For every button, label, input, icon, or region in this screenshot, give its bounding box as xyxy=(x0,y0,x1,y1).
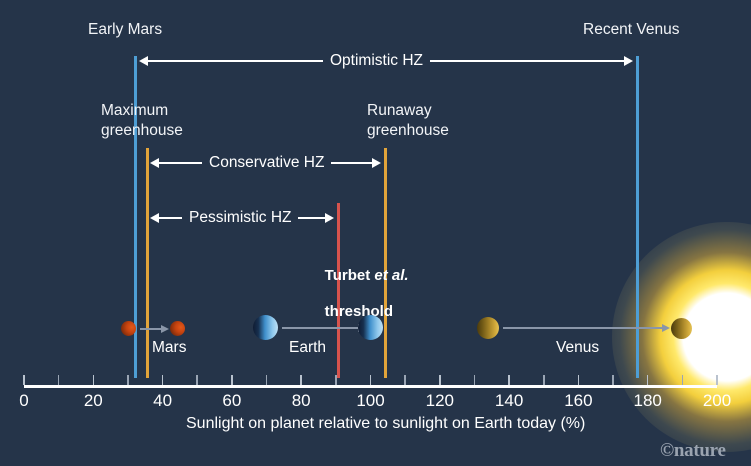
axis-tick xyxy=(127,375,129,385)
zone-conservative-hz: Conservative HZ xyxy=(150,153,381,173)
axis-title: Sunlight on planet relative to sunlight … xyxy=(186,415,585,433)
axis-tick-label: 100 xyxy=(356,391,384,411)
axis-tick-label: 0 xyxy=(19,391,28,411)
arrow-right-icon xyxy=(325,213,334,223)
planet-earth-arrow xyxy=(282,323,366,333)
marker-line-maximum-greenhouse xyxy=(146,148,149,378)
planet-venus-arrow xyxy=(503,323,670,333)
axis-tick xyxy=(474,375,476,385)
axis-tick xyxy=(300,375,302,385)
zone-label-conservative: Conservative HZ xyxy=(202,154,331,172)
label-early-mars: Early Mars xyxy=(88,20,162,39)
turbet-line1-plain: Turbet xyxy=(325,267,375,284)
axis-tick xyxy=(335,375,337,385)
axis-line xyxy=(24,385,717,388)
axis-tick xyxy=(716,375,718,385)
figure-canvas: Early Mars Recent Venus Optimistic HZ Ma… xyxy=(0,0,751,466)
axis-tick-label: 20 xyxy=(84,391,103,411)
arrow-shaft xyxy=(282,327,358,329)
axis-tick xyxy=(647,375,649,385)
zone-label-pessimistic: Pessimistic HZ xyxy=(182,209,298,227)
measure-line xyxy=(430,60,624,62)
planet-mars-present xyxy=(170,321,185,336)
zone-pessimistic-hz: Pessimistic HZ xyxy=(150,208,334,228)
arrow-right-icon xyxy=(372,158,381,168)
planet-label-mars: Mars xyxy=(152,339,186,357)
axis-tick xyxy=(404,375,406,385)
measure-line xyxy=(159,217,182,219)
axis-tick xyxy=(370,375,372,385)
planet-venus-past xyxy=(477,317,499,339)
axis-tick-label: 40 xyxy=(153,391,172,411)
label-maximum-greenhouse: Maximum greenhouse xyxy=(101,101,183,141)
axis-tick xyxy=(508,375,510,385)
arrow-left-icon xyxy=(139,56,148,66)
planet-label-earth: Earth xyxy=(289,339,326,357)
axis-tick xyxy=(196,375,198,385)
axis-tick xyxy=(266,375,268,385)
turbet-line1-italic: et al. xyxy=(374,267,408,284)
measure-line xyxy=(159,162,202,164)
axis-tick-label: 200 xyxy=(703,391,731,411)
arrow-head-icon xyxy=(662,324,670,332)
turbet-line2: threshold xyxy=(325,303,393,320)
measure-line xyxy=(148,60,323,62)
planet-earth-past xyxy=(253,315,278,340)
planet-venus-present xyxy=(671,318,692,339)
label-recent-venus: Recent Venus xyxy=(583,20,680,39)
measure-line xyxy=(298,217,325,219)
axis-tick-label: 160 xyxy=(564,391,592,411)
arrow-head-icon xyxy=(161,325,169,333)
zone-label-optimistic: Optimistic HZ xyxy=(323,52,430,70)
measure-line xyxy=(331,162,372,164)
nature-credit-logo: ©nature xyxy=(660,440,726,462)
axis-tick xyxy=(543,375,545,385)
arrow-shaft xyxy=(503,327,662,329)
axis-tick xyxy=(231,375,233,385)
label-runaway-greenhouse: Runaway greenhouse xyxy=(367,101,449,141)
arrow-shaft xyxy=(140,328,161,330)
axis-tick xyxy=(58,375,60,385)
axis-tick xyxy=(162,375,164,385)
planet-label-venus: Venus xyxy=(556,339,599,357)
axis-tick-label: 120 xyxy=(426,391,454,411)
axis-tick-label: 80 xyxy=(292,391,311,411)
planet-mars-arrow xyxy=(140,324,169,334)
arrow-right-icon xyxy=(624,56,633,66)
axis-tick-label: 140 xyxy=(495,391,523,411)
arrow-left-icon xyxy=(150,213,159,223)
planet-earth-present xyxy=(358,315,383,340)
planet-mars-past xyxy=(121,321,136,336)
axis-tick xyxy=(578,375,580,385)
axis-tick xyxy=(682,375,684,385)
axis-tick-label: 180 xyxy=(634,391,662,411)
axis-tick-label: 60 xyxy=(222,391,241,411)
axis-tick xyxy=(439,375,441,385)
axis-tick xyxy=(93,375,95,385)
planet-label-sun: Sun xyxy=(700,337,728,355)
zone-optimistic-hz: Optimistic HZ xyxy=(139,51,633,71)
axis-tick xyxy=(612,375,614,385)
arrow-left-icon xyxy=(150,158,159,168)
axis-tick xyxy=(23,375,25,385)
